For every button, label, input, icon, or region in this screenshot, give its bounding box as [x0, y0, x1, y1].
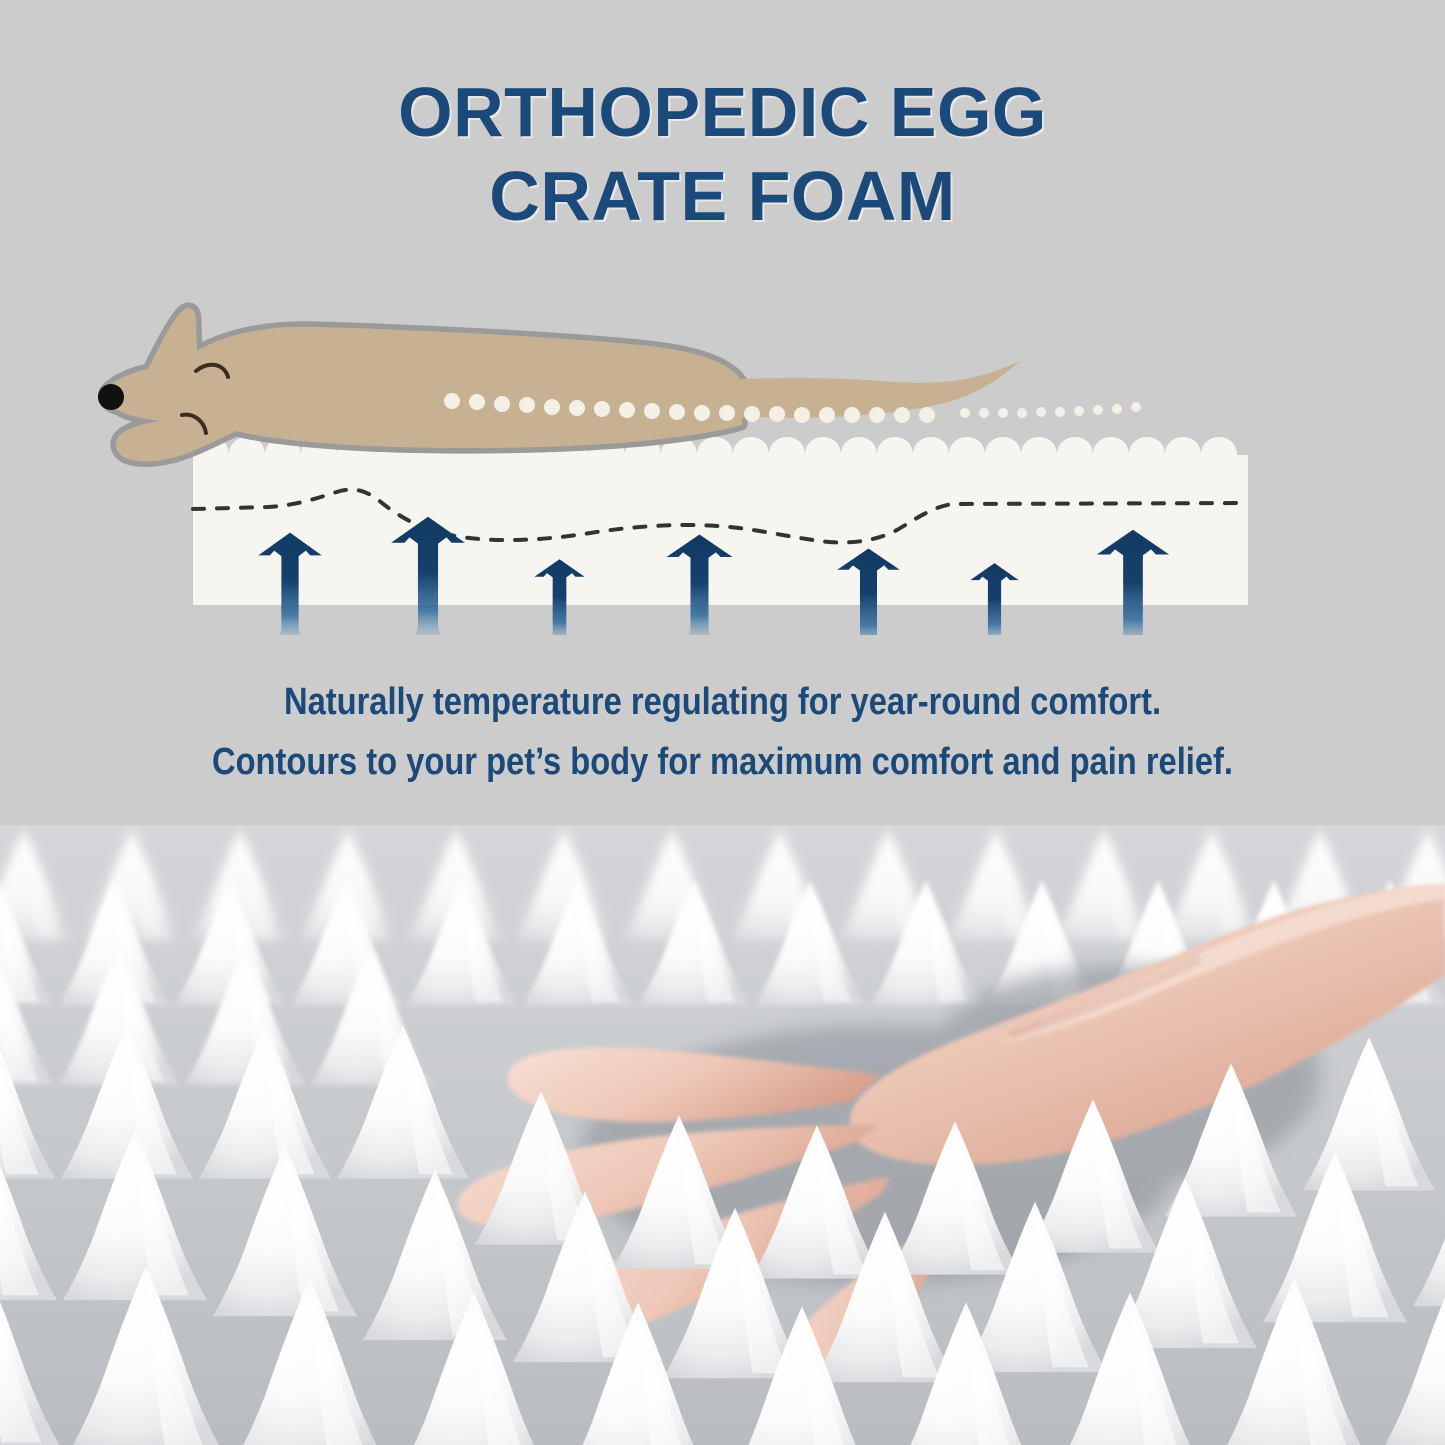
infographic-top-panel: ORTHOPEDIC EGG CRATE FOAM	[0, 0, 1445, 825]
page-title: ORTHOPEDIC EGG CRATE FOAM	[0, 70, 1445, 238]
caption-line-1: Naturally temperature regulating for yea…	[101, 672, 1344, 732]
page-title-line-2: CRATE FOAM	[0, 154, 1445, 238]
caption-line-2: Contours to your pet’s body for maximum …	[101, 732, 1344, 792]
page-title-line-1: ORTHOPEDIC EGG	[0, 70, 1445, 154]
sleeping-dog	[98, 308, 1141, 462]
product-infographic: ORTHOPEDIC EGG CRATE FOAM	[0, 0, 1445, 1445]
dog-on-foam-illustration	[0, 285, 1445, 635]
dog-nose	[98, 384, 124, 410]
hand-pressing-foam-photo	[0, 825, 1445, 1445]
feature-captions: Naturally temperature regulating for yea…	[0, 672, 1445, 792]
egg-crate-foam-block	[193, 437, 1248, 605]
